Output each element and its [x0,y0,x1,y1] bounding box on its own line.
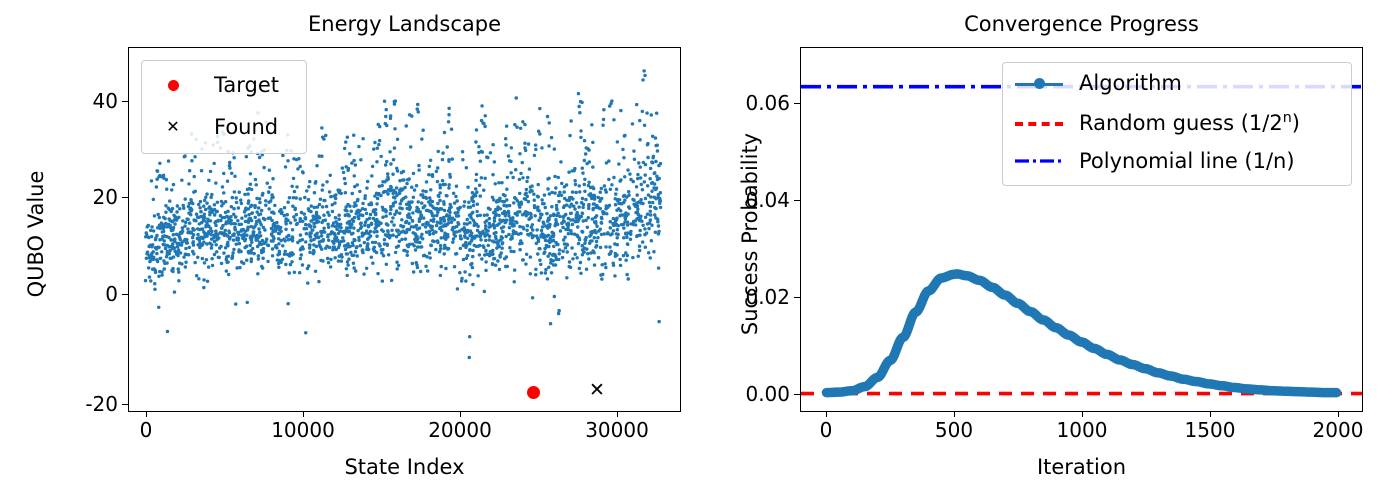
x-tick-label-2: 1000 [1057,418,1108,442]
algorithm-line-icon [1013,69,1065,97]
y-tick-label-3: -20 [50,392,118,416]
y-axis-label-qubo-value: QUBO Value [24,124,48,344]
x-tick-label-2: 20000 [428,418,492,442]
y-tick-label-1: 0.04 [700,188,790,212]
legend-label-polynomial-line: Polynomial line (1/n) [1065,149,1295,173]
x-tick-label-3: 1500 [1185,418,1236,442]
x-tick-label-0: 0 [820,418,833,442]
legend-label-target: Target [200,73,279,97]
y-tick-label-3: 0.00 [700,382,790,406]
legend-row-polynomial-line[interactable]: Polynomial line (1/n) [1013,147,1295,175]
legend-label-algorithm: Algorithm [1065,71,1182,95]
panel-title-convergence-progress: Convergence Progress [800,12,1363,36]
x-tick-label-1: 10000 [271,418,335,442]
x-tick-label-4: 2000 [1313,418,1364,442]
legend-convergence-progress[interactable]: Algorithm Random guess (1/2n) Polynomial… [1002,62,1352,186]
panel-energy-landscape: Energy Landscape QUBO Value State Index … [0,0,700,500]
y-tick-label-0: 0.06 [700,91,790,115]
legend-row-target[interactable]: Target [148,71,279,99]
legend-row-found[interactable]: ✕ Found [148,113,278,141]
y-tick-label-2: 0 [50,282,118,306]
figure-canvas: Energy Landscape QUBO Value State Index … [0,0,1400,500]
legend-label-random-guess-tail: ) [1292,111,1300,135]
panel-convergence-progress: Convergence Progress Success Probability… [700,0,1400,500]
legend-row-random-guess[interactable]: Random guess (1/2n) [1013,108,1300,136]
polynomial-dashdot-icon [1013,147,1065,175]
y-tick-label-1: 20 [50,185,118,209]
y-axis-label-success-probability: Success Probability [738,74,762,394]
x-tick-label-3: 30000 [585,418,649,442]
x-axis-label-iteration: Iteration [800,455,1363,479]
x-tick-label-1: 500 [935,418,973,442]
x-axis-label-state-index: State Index [128,455,681,479]
random-guess-dashed-icon [1013,108,1065,136]
y-tick-label-0: 40 [50,89,118,113]
y-tick-label-2: 0.02 [700,285,790,309]
legend-energy-landscape[interactable]: Target ✕ Found [141,60,307,154]
legend-row-algorithm[interactable]: Algorithm [1013,69,1182,97]
target-marker [527,386,540,399]
legend-label-found: Found [200,115,278,139]
found-marker: ✕ [589,381,605,400]
legend-label-random-guess: Random guess (1/2n) [1065,110,1300,135]
panel-title-energy-landscape: Energy Landscape [128,12,681,36]
legend-label-random-guess-main: Random guess (1/2 [1079,111,1283,135]
x-tick-label-0: 0 [140,418,153,442]
found-x-icon: ✕ [148,113,200,141]
target-dot-icon [148,71,200,99]
legend-label-random-guess-exponent: n [1283,110,1292,126]
